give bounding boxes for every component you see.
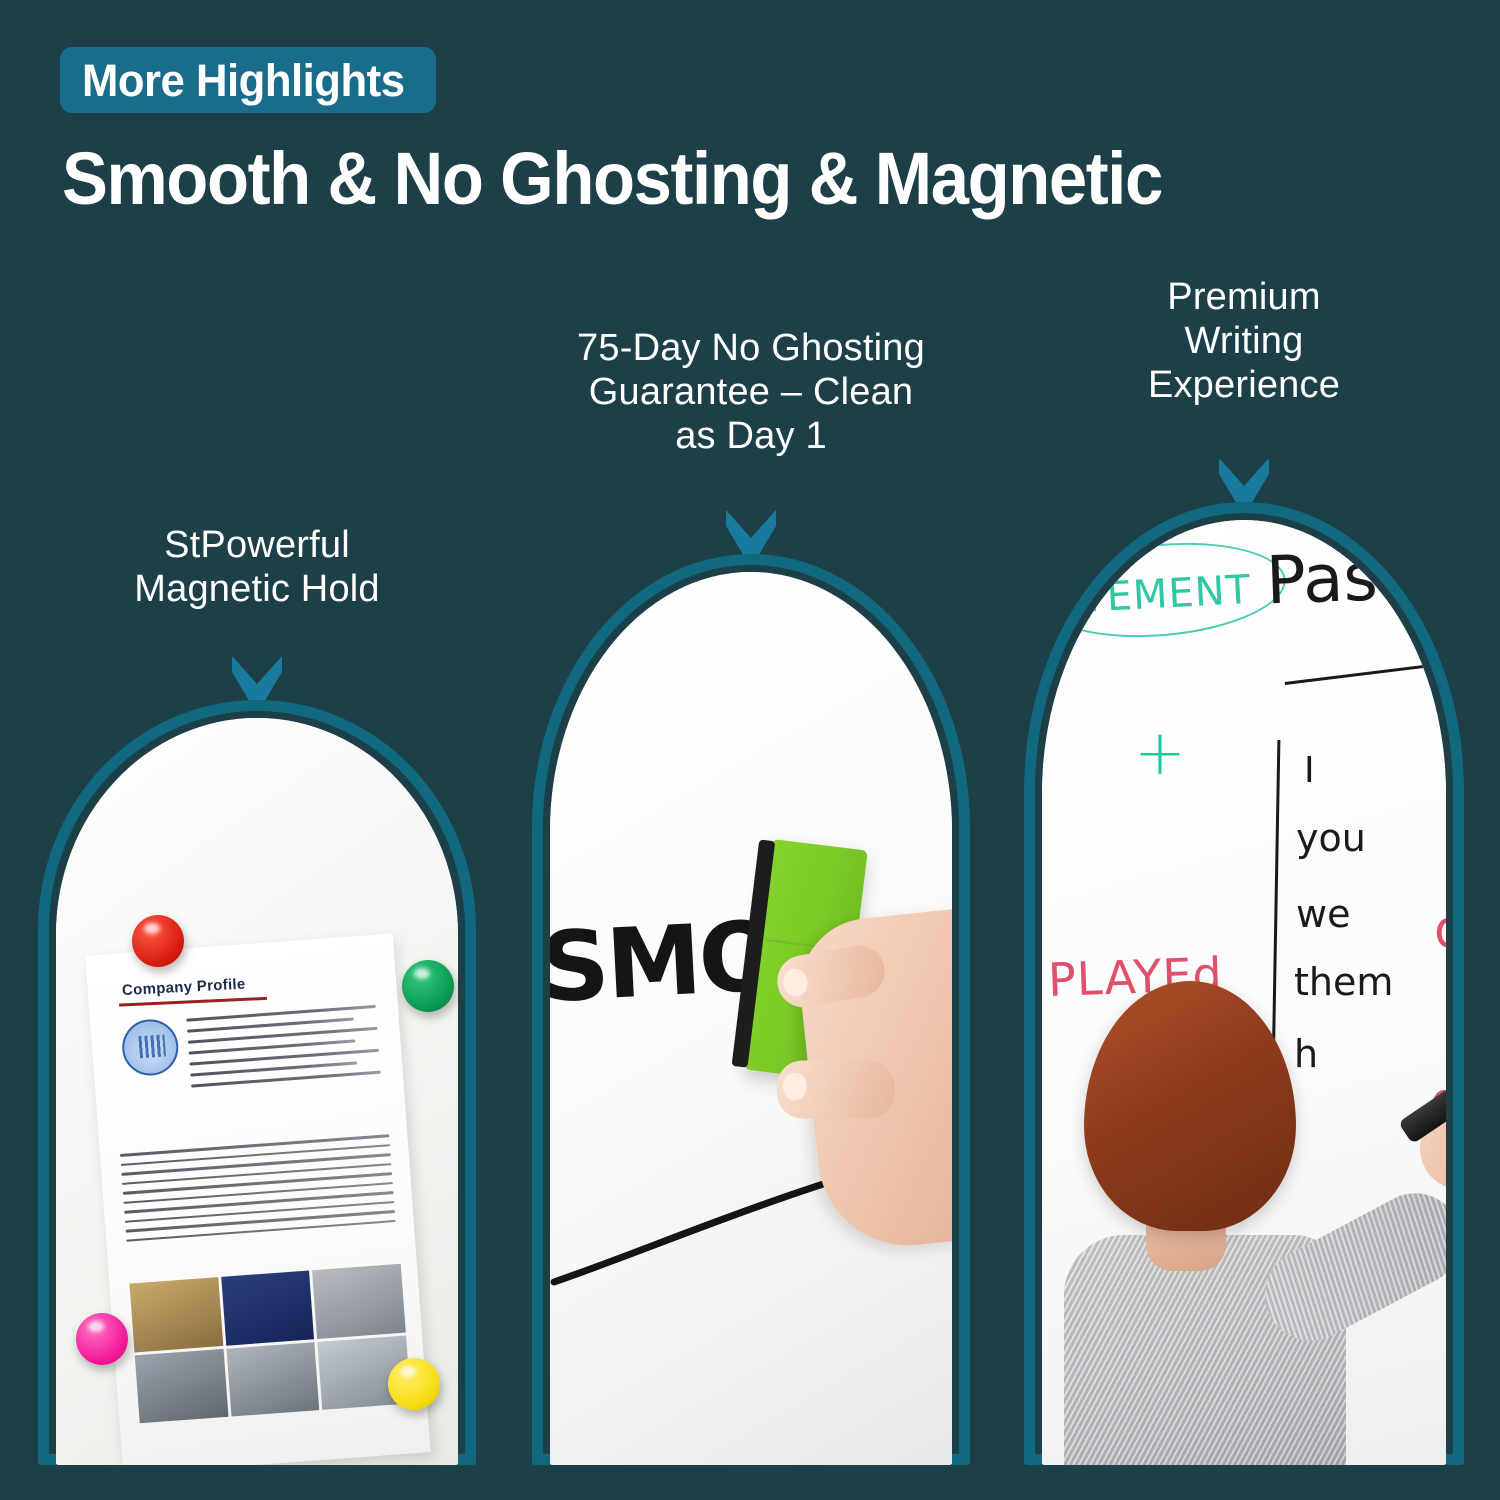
feature-column-no-ghosting: 75-Day No Ghosting Guarantee – Clean as …	[516, 0, 986, 1500]
document-rule	[119, 997, 267, 1006]
handwritten-past: Past	[1265, 538, 1405, 620]
child-writing	[1070, 935, 1400, 1465]
thumb	[777, 1060, 895, 1118]
feature-caption-no-ghosting: 75-Day No Ghosting Guarantee – Clean as …	[516, 326, 986, 458]
caption-line: 75-Day No Ghosting	[516, 326, 986, 370]
caption-line: StPowerful	[22, 523, 492, 567]
company-profile-document: Company Profile	[85, 933, 430, 1465]
caption-line: Magnetic Hold	[22, 567, 492, 611]
caption-line: as Day 1	[516, 414, 986, 458]
caption-line: Writing	[1008, 319, 1480, 363]
whiteboard-surface: ATEMENT Past + I you we them h PLAYEd di…	[1042, 520, 1446, 1465]
feature-photo-premium-writing: ATEMENT Past + I you we them h PLAYEd di…	[1008, 502, 1480, 1465]
feature-column-magnetic: StPowerful Magnetic Hold Company Profile	[22, 0, 492, 1500]
pink-magnet	[76, 1313, 128, 1365]
document-title: Company Profile	[122, 976, 246, 999]
handwritten-horizontal-rule	[1285, 654, 1446, 685]
feature-caption-premium-writing: Premium Writing Experience	[1008, 275, 1480, 407]
handwritten-plus: +	[1134, 716, 1186, 789]
fingernail	[781, 967, 809, 999]
handwritten-did: di	[1434, 900, 1446, 960]
green-magnet	[402, 960, 454, 1012]
panel-face: SMOO	[550, 572, 952, 1465]
caption-line: Premium	[1008, 275, 1480, 319]
feature-caption-magnetic: StPowerful Magnetic Hold	[22, 523, 492, 611]
panel-face: Company Profile	[56, 718, 458, 1465]
feature-column-premium-writing: Premium Writing Experience ATEMENT Past …	[1008, 0, 1480, 1500]
handwritten-pronoun: we	[1296, 892, 1350, 936]
caption-line: Guarantee – Clean	[516, 370, 986, 414]
red-magnet	[132, 915, 184, 967]
company-seal-icon	[120, 1017, 180, 1077]
handwritten-pronoun: I	[1304, 750, 1315, 791]
feature-photo-magnetic: Company Profile	[22, 700, 492, 1465]
document-paragraph	[120, 1134, 396, 1249]
document-bullets	[186, 1005, 381, 1096]
child-hair	[1084, 981, 1296, 1231]
feature-photo-no-ghosting: SMOO	[516, 554, 986, 1465]
panel-face: ATEMENT Past + I you we them h PLAYEd di…	[1042, 520, 1446, 1465]
handwritten-pronoun: you	[1296, 816, 1366, 860]
fingernail	[783, 1072, 807, 1100]
whiteboard-surface: Company Profile	[56, 718, 458, 1465]
whiteboard-surface: SMOO	[550, 572, 952, 1465]
document-photo-grid	[129, 1264, 411, 1424]
caption-line: Experience	[1008, 363, 1480, 407]
yellow-magnet	[388, 1358, 440, 1410]
